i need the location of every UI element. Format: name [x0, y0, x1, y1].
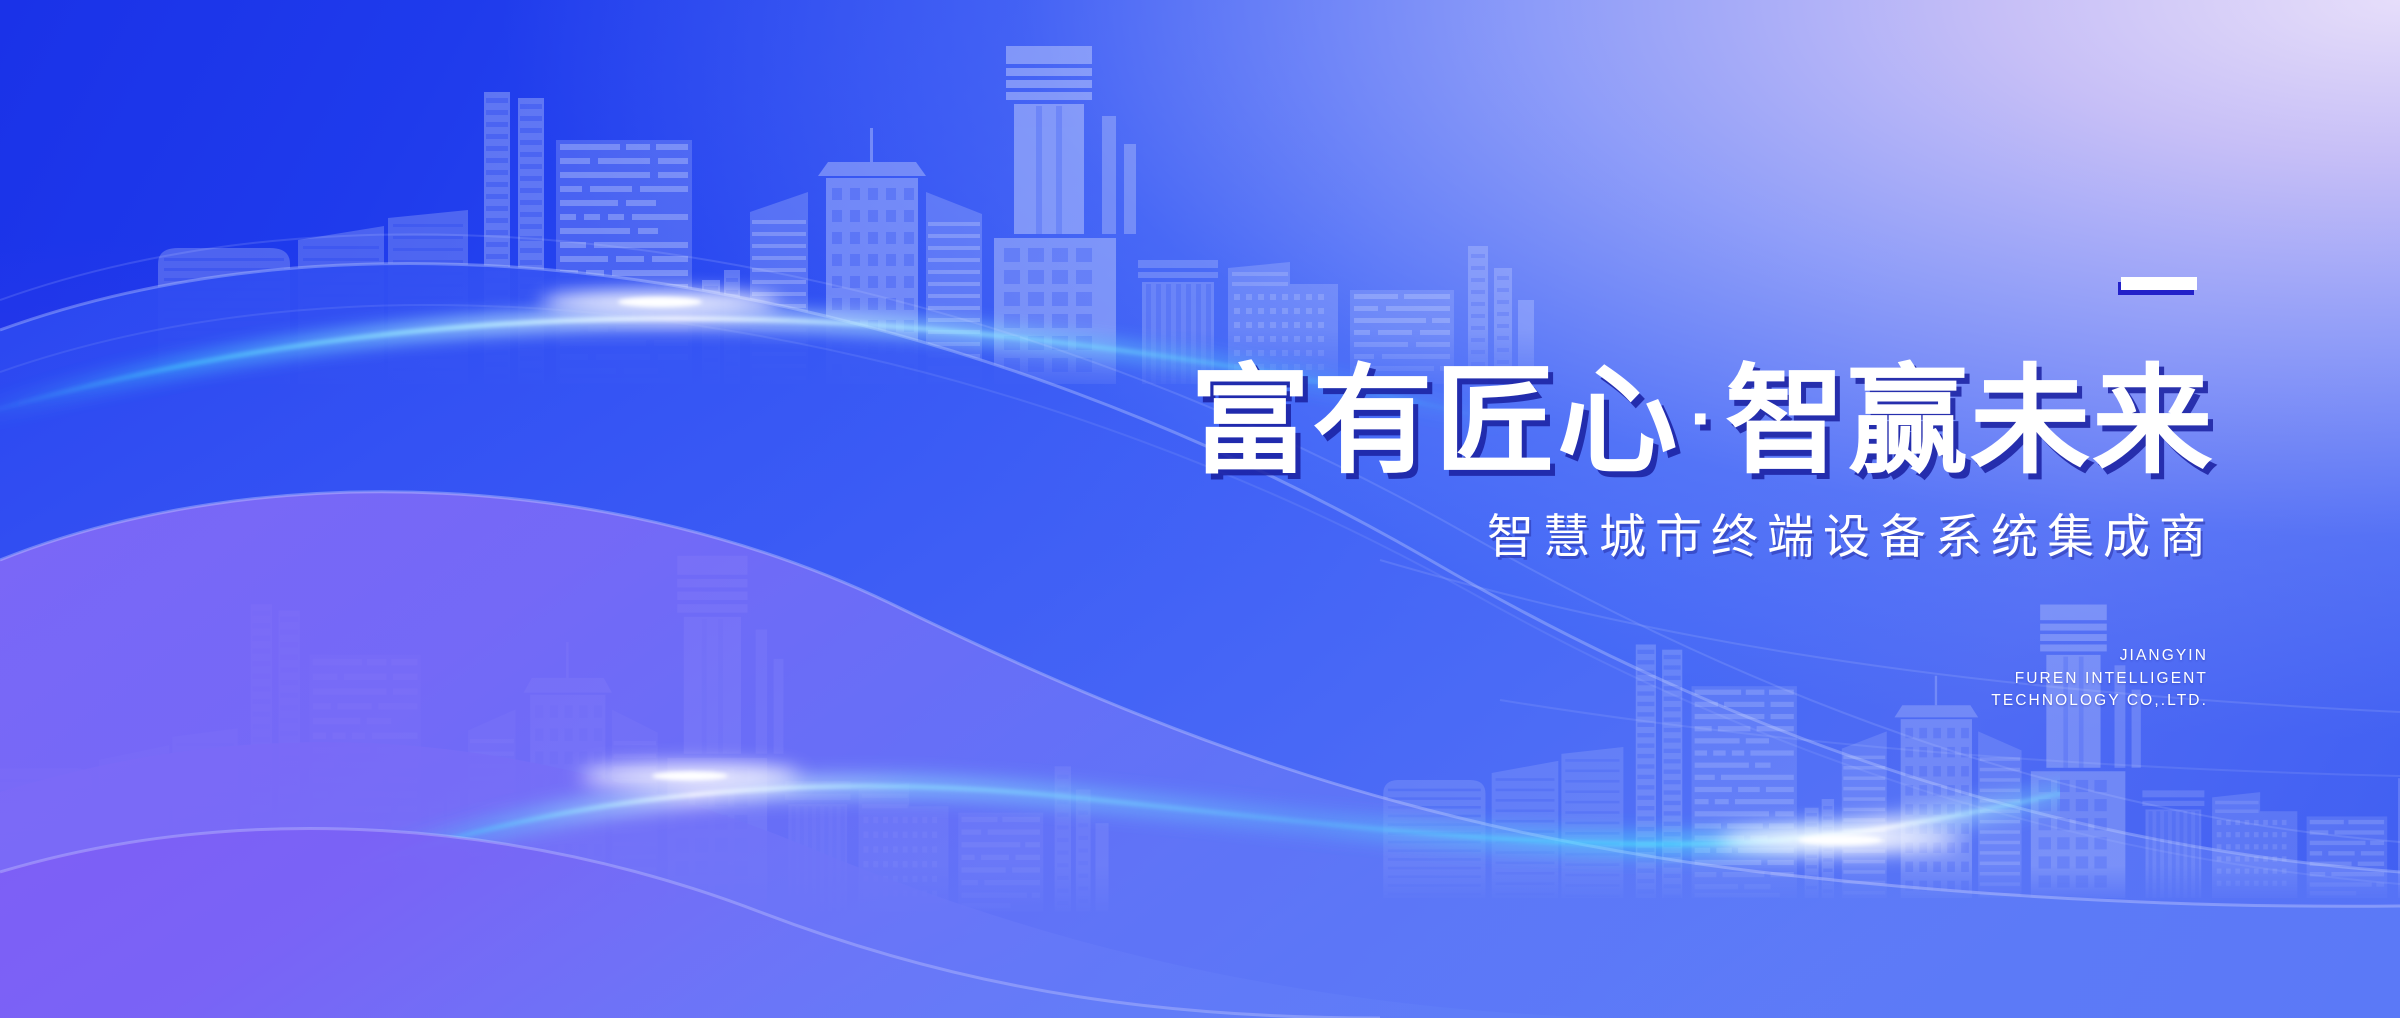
- company-name-line-1: JIANGYIN: [1991, 645, 2208, 668]
- company-name-line-2: FUREN INTELLIGENT: [1991, 668, 2208, 691]
- page-title-separator: ·: [1680, 377, 1726, 460]
- page-subtitle: 智慧城市终端设备系统集成商: [1478, 508, 2215, 566]
- promo-banner: 富有匠心·智赢未来 智慧城市终端设备系统集成商 JIANGYIN FUREN I…: [0, 0, 2400, 1018]
- page-title-right: 智赢未来: [1725, 356, 2215, 488]
- page-title-left: 富有匠心: [1190, 356, 1680, 488]
- company-name-line-3: TECHNOLOGY CO,.LTD.: [1991, 690, 2208, 713]
- page-title: 富有匠心·智赢未来: [1190, 360, 2215, 481]
- company-name-english: JIANGYIN FUREN INTELLIGENT TECHNOLOGY CO…: [1991, 645, 2208, 713]
- banner-text-block: 富有匠心·智赢未来 智慧城市终端设备系统集成商 JIANGYIN FUREN I…: [0, 0, 2400, 1018]
- accent-dash-mark: [2121, 277, 2197, 290]
